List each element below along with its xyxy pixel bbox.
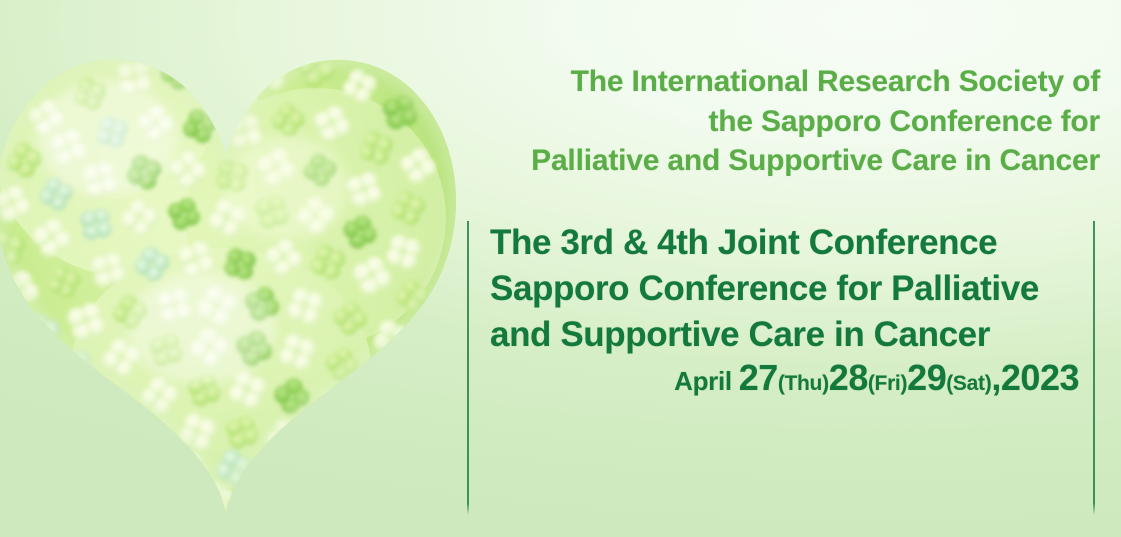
date-day-2: 28 xyxy=(829,357,868,398)
date-month: April xyxy=(674,366,732,396)
conference-dates: April 27(Thu)28(Fri)29(Sat),2023 xyxy=(674,357,1079,399)
date-dow-3: (Sat) xyxy=(946,372,991,395)
heart-of-flowers-image xyxy=(0,8,466,537)
date-dow-1: (Thu) xyxy=(778,372,829,395)
date-day-1: 27 xyxy=(739,357,778,398)
society-name-line-3: Palliative and Supportive Care in Cancer xyxy=(460,141,1100,181)
heart-flower-svg xyxy=(0,8,466,537)
date-day-3: 29 xyxy=(907,357,946,398)
society-name-line-1: The International Research Society of xyxy=(460,62,1100,102)
conference-banner: The International Research Society of th… xyxy=(0,0,1121,537)
conference-title: The 3rd & 4th Joint Conference Sapporo C… xyxy=(490,220,1090,358)
conference-title-line-1: The 3rd & 4th Joint Conference xyxy=(490,220,1090,266)
date-separator: , xyxy=(991,357,1001,398)
date-dow-2: (Fri) xyxy=(868,372,907,395)
conference-title-line-3: and Supportive Care in Cancer xyxy=(490,312,1090,358)
vertical-divider-right xyxy=(1093,221,1095,515)
date-year: 2023 xyxy=(1001,357,1079,398)
vertical-divider-left xyxy=(467,221,469,515)
society-name-line-2: the Sapporo Conference for xyxy=(460,102,1100,142)
society-name: The International Research Society of th… xyxy=(460,62,1100,181)
conference-title-line-2: Sapporo Conference for Palliative xyxy=(490,266,1090,312)
